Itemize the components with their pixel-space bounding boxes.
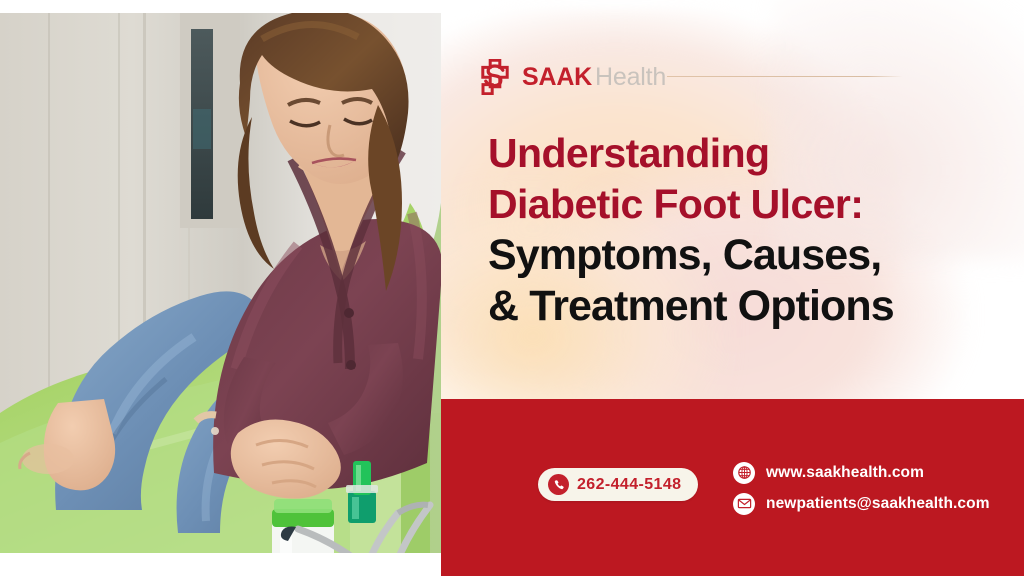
promotional-banner: SAAKHealth Understanding Diabetic Foot U… xyxy=(0,0,1024,576)
email-contact-row[interactable]: newpatients@saakhealth.com xyxy=(733,490,990,517)
phone-button[interactable]: 262-444-5148 xyxy=(538,468,698,501)
headline-line-3: Symptoms, Causes, xyxy=(488,230,1008,281)
brand-logo[interactable]: SAAKHealth xyxy=(478,57,666,97)
website-contact-row[interactable]: www.saakhealth.com xyxy=(733,459,990,486)
content-panel: SAAKHealth Understanding Diabetic Foot U… xyxy=(441,0,1024,399)
headline-line-4: & Treatment Options xyxy=(488,281,1008,332)
globe-icon xyxy=(733,462,755,484)
patient-foot-care-photo xyxy=(0,13,441,553)
envelope-icon xyxy=(733,493,755,515)
contact-footer-band: 262-444-5148 www.saakhealth.com xyxy=(441,399,1024,576)
medical-cross-s-monogram-icon xyxy=(478,59,512,95)
email-address: newpatients@saakhealth.com xyxy=(766,495,990,513)
brand-name-light: Health xyxy=(595,63,666,91)
brand-wordmark: SAAKHealth xyxy=(522,65,666,90)
header-divider xyxy=(667,76,903,77)
headline-line-1: Understanding xyxy=(488,128,1008,179)
headline-line-2: Diabetic Foot Ulcer: xyxy=(488,179,1008,230)
website-url: www.saakhealth.com xyxy=(766,464,924,482)
phone-icon xyxy=(548,474,569,495)
phone-number: 262-444-5148 xyxy=(577,476,681,494)
contact-list: www.saakhealth.com newpatients@saakhealt… xyxy=(733,459,990,521)
headline-block: Understanding Diabetic Foot Ulcer: Sympt… xyxy=(488,128,1008,332)
brand-name-bold: SAAK xyxy=(522,63,592,91)
